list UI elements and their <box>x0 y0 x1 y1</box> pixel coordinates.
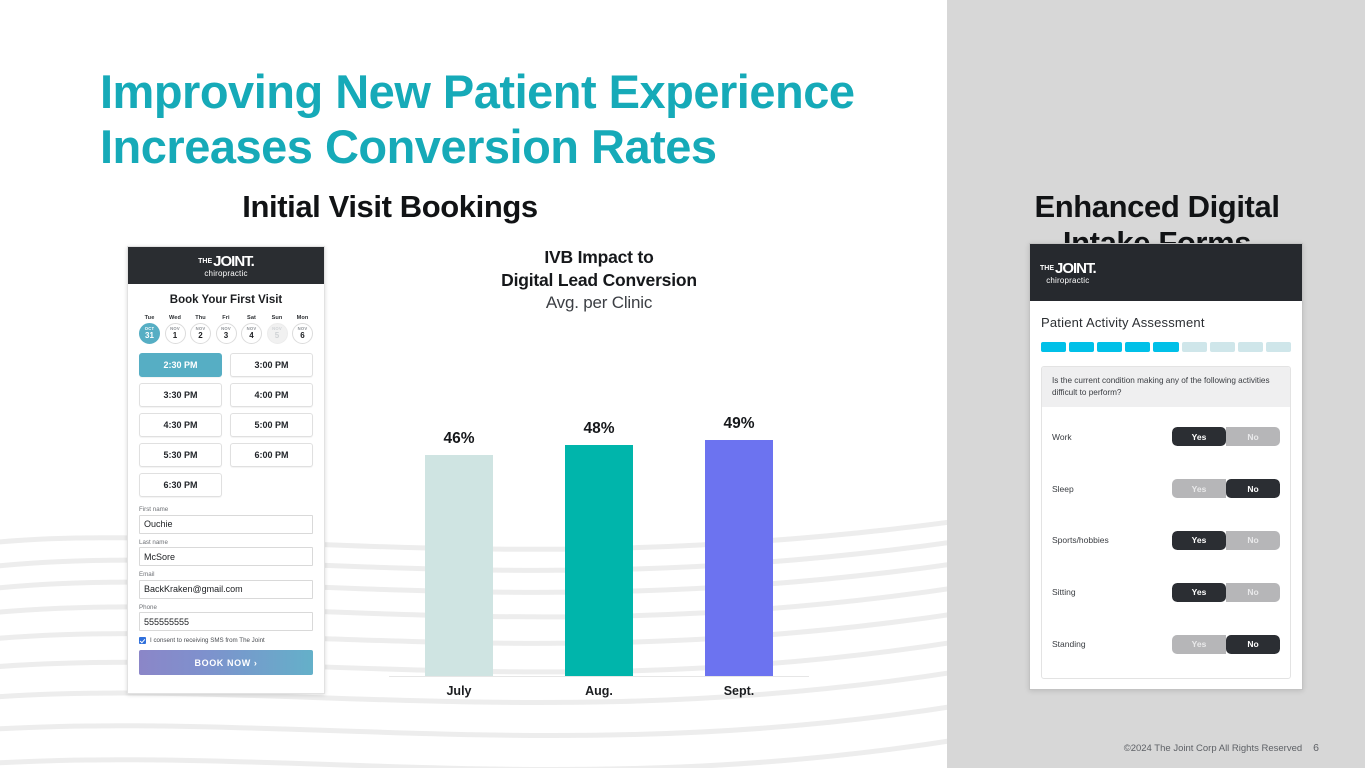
chart-plot-area: 46%48%49% <box>389 396 809 677</box>
toggle-no-option[interactable]: No <box>1226 583 1280 602</box>
date-day: 1 <box>173 332 177 340</box>
footer-page-number: 6 <box>1313 742 1319 754</box>
toggle-yes-option[interactable]: Yes <box>1172 583 1226 602</box>
chart-subtitle: Avg. per Clinic <box>389 293 809 313</box>
x-axis-tick-label: Aug. <box>554 684 644 698</box>
page-title-line-1: Improving New Patient Experience <box>100 64 960 119</box>
toggle-yes-option[interactable]: Yes <box>1172 531 1226 550</box>
yes-no-toggle[interactable]: YesNo <box>1172 583 1280 602</box>
logo-sub-text: chiropractic <box>204 270 247 278</box>
date-day-of-week: Wed <box>169 315 181 321</box>
date-day-of-week: Sat <box>247 315 256 321</box>
booking-widget-header: THE JOINT. chiropractic <box>128 247 324 284</box>
activity-row: SleepYesNo <box>1052 479 1280 498</box>
bar-sept <box>705 440 773 676</box>
bar-column: 46% <box>414 430 504 676</box>
sms-consent-label: I consent to receiving SMS from The Join… <box>150 637 265 644</box>
date-picker-strip: TueOCT31WedNOV1ThuNOV2FriNOV3SatNOV4SunN… <box>139 315 313 344</box>
chart-title: IVB Impact to Digital Lead Conversion <box>389 246 809 292</box>
activity-row: StandingYesNo <box>1052 635 1280 654</box>
footer: ©2024 The Joint Corp All Rights Reserved… <box>1124 742 1319 754</box>
toggle-no-option[interactable]: No <box>1226 427 1280 446</box>
yes-no-toggle[interactable]: YesNo <box>1172 635 1280 654</box>
x-axis-tick-label: July <box>414 684 504 698</box>
footer-copyright: ©2024 The Joint Corp All Rights Reserved <box>1124 743 1302 754</box>
activity-label: Work <box>1052 432 1072 442</box>
date-option-fri[interactable]: FriNOV3 <box>216 315 237 344</box>
date-day: 3 <box>224 332 228 340</box>
logo-sub-text: chiropractic <box>1046 277 1089 285</box>
date-chip[interactable]: NOV2 <box>190 323 211 344</box>
date-day: 4 <box>249 332 253 340</box>
intake-progress-bar <box>1041 342 1291 352</box>
sms-consent-row[interactable]: I consent to receiving SMS from The Join… <box>139 637 313 644</box>
progress-segment <box>1097 342 1122 352</box>
date-day-of-week: Tue <box>145 315 155 321</box>
date-chip: NOV5 <box>267 323 288 344</box>
time-slot-button[interactable]: 6:00 PM <box>230 443 313 467</box>
logo-the-text: THE <box>198 258 212 265</box>
date-option-mon[interactable]: MonNOV6 <box>292 315 313 344</box>
booking-widget-title: Book Your First Visit <box>139 294 313 306</box>
intake-widget-body: Patient Activity Assessment Is the curre… <box>1030 301 1302 689</box>
joint-chiropractic-logo-icon: THE JOINT. chiropractic <box>198 254 254 278</box>
time-slot-button[interactable]: 3:00 PM <box>230 353 313 377</box>
time-slot-button[interactable]: 4:00 PM <box>230 383 313 407</box>
progress-segment <box>1210 342 1235 352</box>
bar-value-label: 46% <box>443 430 474 448</box>
date-day: 5 <box>275 332 279 340</box>
progress-segment <box>1069 342 1094 352</box>
bar-value-label: 49% <box>723 415 754 433</box>
toggle-yes-option[interactable]: Yes <box>1172 479 1226 498</box>
chart-x-axis: JulyAug.Sept. <box>389 684 809 698</box>
form-field-label: Email <box>139 571 313 578</box>
progress-segment <box>1041 342 1066 352</box>
first-name-input[interactable]: Ouchie <box>139 515 313 534</box>
time-slot-button[interactable]: 2:30 PM <box>139 353 222 377</box>
page-title: Improving New Patient Experience Increas… <box>100 64 960 174</box>
yes-no-toggle[interactable]: YesNo <box>1172 531 1280 550</box>
bar-value-label: 48% <box>583 420 614 438</box>
progress-segment <box>1238 342 1263 352</box>
left-section-title: Initial Visit Bookings <box>100 189 680 225</box>
question-text: Is the current condition making any of t… <box>1042 367 1290 407</box>
bar-july <box>425 455 493 676</box>
email-input[interactable]: BackKraken@gmail.com <box>139 580 313 599</box>
form-field-label: First name <box>139 506 313 513</box>
toggle-no-option[interactable]: No <box>1226 479 1280 498</box>
sms-consent-checkbox[interactable] <box>139 637 146 644</box>
time-slot-button[interactable]: 5:00 PM <box>230 413 313 437</box>
intake-form-widget: THE JOINT. chiropractic Patient Activity… <box>1029 243 1303 690</box>
x-axis-tick-label: Sept. <box>694 684 784 698</box>
date-day: 2 <box>198 332 202 340</box>
activity-label: Standing <box>1052 639 1086 649</box>
toggle-yes-option[interactable]: Yes <box>1172 635 1226 654</box>
time-slot-button[interactable]: 6:30 PM <box>139 473 222 497</box>
chart-title-line-1: IVB Impact to <box>389 246 809 269</box>
toggle-yes-option[interactable]: Yes <box>1172 427 1226 446</box>
activity-row: WorkYesNo <box>1052 427 1280 446</box>
logo-the-text: THE <box>1040 265 1054 272</box>
intake-widget-header: THE JOINT. chiropractic <box>1030 244 1302 301</box>
yes-no-toggle[interactable]: YesNo <box>1172 479 1280 498</box>
progress-segment <box>1153 342 1178 352</box>
date-day: 31 <box>145 332 154 340</box>
intake-form-title: Patient Activity Assessment <box>1041 315 1291 330</box>
progress-segment <box>1182 342 1207 352</box>
chart-title-line-2: Digital Lead Conversion <box>389 269 809 292</box>
date-chip[interactable]: NOV4 <box>241 323 262 344</box>
date-option-sat[interactable]: SatNOV4 <box>241 315 262 344</box>
form-field: Phone555555555 <box>139 604 313 632</box>
date-chip[interactable]: NOV6 <box>292 323 313 344</box>
date-chip[interactable]: OCT31 <box>139 323 160 344</box>
joint-chiropractic-logo-icon: THE JOINT. chiropractic <box>1040 261 1096 285</box>
date-chip[interactable]: NOV1 <box>165 323 186 344</box>
form-field-label: Phone <box>139 604 313 611</box>
progress-segment <box>1125 342 1150 352</box>
logo-joint-text: JOINT. <box>1055 261 1096 276</box>
bar-column: 48% <box>554 420 644 676</box>
activity-label: Sitting <box>1052 587 1076 597</box>
form-field-label: Last name <box>139 539 313 546</box>
last-name-input[interactable]: McSore <box>139 547 313 566</box>
ivb-bar-chart: IVB Impact to Digital Lead Conversion Av… <box>389 246 809 706</box>
toggle-no-option[interactable]: No <box>1226 531 1280 550</box>
time-slot-button[interactable]: 4:30 PM <box>139 413 222 437</box>
form-field: First nameOuchie <box>139 506 313 534</box>
toggle-no-option[interactable]: No <box>1226 635 1280 654</box>
date-day: 6 <box>300 332 304 340</box>
booking-form-fields: First nameOuchieLast nameMcSoreEmailBack… <box>139 506 313 631</box>
date-option-thu[interactable]: ThuNOV2 <box>190 315 211 344</box>
book-now-button[interactable]: BOOK NOW › <box>139 650 313 675</box>
booking-widget: THE JOINT. chiropractic Book Your First … <box>127 246 325 694</box>
bar-aug <box>565 445 633 676</box>
date-day-of-week: Mon <box>297 315 309 321</box>
form-field: EmailBackKraken@gmail.com <box>139 571 313 599</box>
activity-row: SittingYesNo <box>1052 583 1280 602</box>
date-chip[interactable]: NOV3 <box>216 323 237 344</box>
activity-label: Sports/hobbies <box>1052 535 1109 545</box>
time-slot-button[interactable]: 3:30 PM <box>139 383 222 407</box>
activity-row: Sports/hobbiesYesNo <box>1052 531 1280 550</box>
date-day-of-week: Sun <box>272 315 283 321</box>
booking-widget-body: Book Your First Visit TueOCT31WedNOV1Thu… <box>128 284 324 693</box>
logo-joint-text: JOINT. <box>213 254 254 269</box>
date-day-of-week: Fri <box>222 315 229 321</box>
page-title-line-2: Increases Conversion Rates <box>100 119 960 174</box>
date-day-of-week: Thu <box>195 315 206 321</box>
activity-label: Sleep <box>1052 484 1074 494</box>
date-option-tue[interactable]: TueOCT31 <box>139 315 160 344</box>
date-option-sun: SunNOV5 <box>267 315 288 344</box>
form-field: Last nameMcSore <box>139 539 313 567</box>
question-card: Is the current condition making any of t… <box>1041 366 1291 679</box>
activity-rows: WorkYesNoSleepYesNoSports/hobbiesYesNoSi… <box>1042 407 1290 678</box>
right-section-title-line-1: Enhanced Digital <box>987 189 1327 225</box>
time-slot-grid: 2:30 PM3:00 PM3:30 PM4:00 PM4:30 PM5:00 … <box>139 353 313 497</box>
yes-no-toggle[interactable]: YesNo <box>1172 427 1280 446</box>
phone-input[interactable]: 555555555 <box>139 612 313 631</box>
progress-segment <box>1266 342 1291 352</box>
time-slot-button[interactable]: 5:30 PM <box>139 443 222 467</box>
date-option-wed[interactable]: WedNOV1 <box>165 315 186 344</box>
bar-column: 49% <box>694 415 784 676</box>
